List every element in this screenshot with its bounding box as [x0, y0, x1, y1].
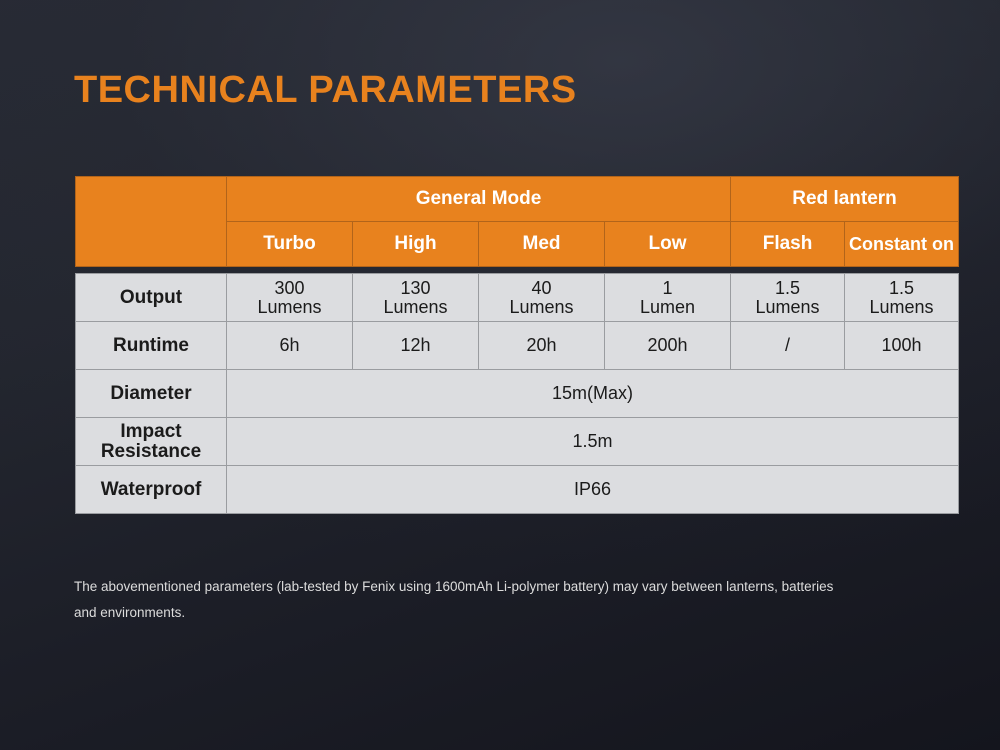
cell-runtime-low: 200h [605, 322, 731, 370]
cell-runtime-med: 20h [479, 322, 605, 370]
row-label-output: Output [76, 274, 227, 322]
cell-output-med-unit: Lumens [483, 298, 600, 317]
cell-output-low-unit: Lumen [609, 298, 726, 317]
column-header-constant-on-line1: Constant [849, 234, 927, 254]
cell-output-low: 1 Lumen [605, 274, 731, 322]
cell-waterproof-value: IP66 [227, 466, 959, 514]
group-header-red-lantern: Red lantern [731, 177, 959, 222]
table-body: Output 300 Lumens 130 Lumens [76, 267, 959, 514]
row-label-diameter: Diameter [76, 370, 227, 418]
row-label-impact-resistance-line2: Resistance [101, 441, 201, 462]
cell-output-high-value: 130 [357, 279, 474, 298]
column-header-constant-on-line2: on [932, 234, 954, 254]
table-row-diameter: Diameter 15m(Max) [76, 370, 959, 418]
row-label-runtime: Runtime [76, 322, 227, 370]
table-row-output: Output 300 Lumens 130 Lumens [76, 274, 959, 322]
row-label-impact-resistance: Impact Resistance [76, 418, 227, 466]
cell-output-turbo-value: 300 [231, 279, 348, 298]
cell-output-med-value: 40 [483, 279, 600, 298]
cell-runtime-flash: / [731, 322, 845, 370]
table-row-impact-resistance: Impact Resistance 1.5m [76, 418, 959, 466]
technical-parameters-table: General Mode Red lantern Turbo High Med … [75, 176, 959, 514]
row-label-impact-resistance-line1: Impact [120, 421, 181, 442]
page-title: TECHNICAL PARAMETERS [74, 70, 577, 112]
cell-output-constant-on-value: 1.5 [849, 279, 954, 298]
table-header-body-gap [76, 267, 959, 274]
table-corner-cell [76, 177, 227, 267]
cell-output-turbo-unit: Lumens [231, 298, 348, 317]
cell-output-turbo: 300 Lumens [227, 274, 353, 322]
column-header-med: Med [479, 222, 605, 267]
technical-parameters-table-container: General Mode Red lantern Turbo High Med … [75, 176, 925, 514]
column-header-flash: Flash [731, 222, 845, 267]
column-header-high: High [353, 222, 479, 267]
cell-output-flash: 1.5 Lumens [731, 274, 845, 322]
cell-output-low-value: 1 [609, 279, 726, 298]
cell-diameter-value: 15m(Max) [227, 370, 959, 418]
cell-output-flash-value: 1.5 [735, 279, 840, 298]
slide-canvas: TECHNICAL PARAMETERS General Mode Red la… [0, 0, 1000, 750]
cell-output-high: 130 Lumens [353, 274, 479, 322]
cell-runtime-constant-on: 100h [845, 322, 959, 370]
column-header-constant-on: Constant on [845, 222, 959, 267]
table-group-header-row: General Mode Red lantern [76, 177, 959, 222]
cell-impact-resistance-value: 1.5m [227, 418, 959, 466]
group-header-general-mode: General Mode [227, 177, 731, 222]
column-header-low: Low [605, 222, 731, 267]
table-header: General Mode Red lantern Turbo High Med … [76, 177, 959, 267]
column-header-turbo: Turbo [227, 222, 353, 267]
cell-runtime-high: 12h [353, 322, 479, 370]
row-label-waterproof: Waterproof [76, 466, 227, 514]
table-row-runtime: Runtime 6h 12h 20h 200h / 100h [76, 322, 959, 370]
cell-output-constant-on: 1.5 Lumens [845, 274, 959, 322]
cell-output-high-unit: Lumens [357, 298, 474, 317]
cell-output-flash-unit: Lumens [735, 298, 840, 317]
footnote-text: The abovementioned parameters (lab-teste… [74, 574, 834, 627]
table-row-waterproof: Waterproof IP66 [76, 466, 959, 514]
cell-runtime-turbo: 6h [227, 322, 353, 370]
cell-output-med: 40 Lumens [479, 274, 605, 322]
cell-output-constant-on-unit: Lumens [849, 298, 954, 317]
